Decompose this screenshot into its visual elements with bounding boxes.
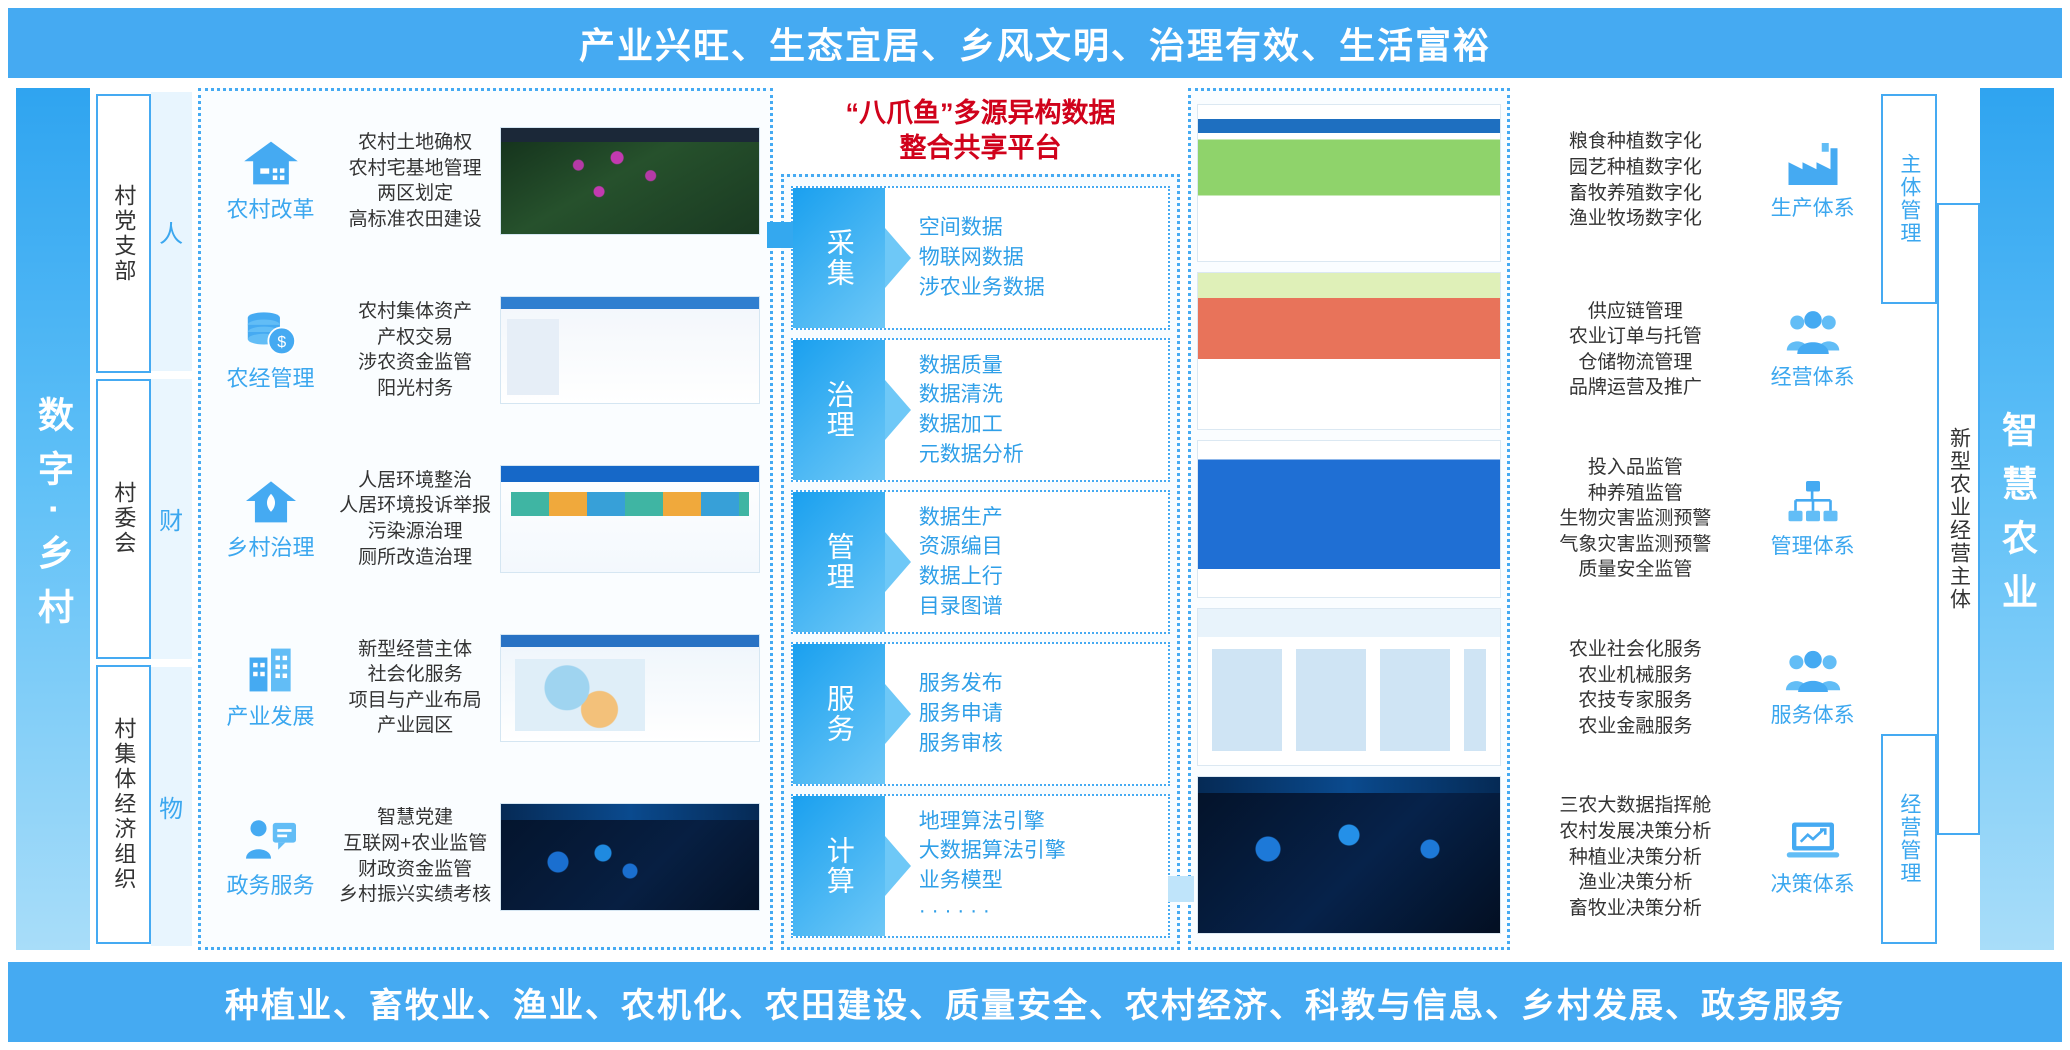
module-item: 智慧党建 (331, 805, 500, 831)
right-label-text: 新型农业经营主体 (1944, 427, 1974, 611)
system-label: 经营体系 (1771, 361, 1855, 391)
module-item: 人居环境投诉举报 (331, 493, 500, 519)
stage-name-badge: 服务 (793, 644, 885, 784)
stage-item: 服务发布 (919, 670, 1162, 698)
stage-name-badge: 采集 (793, 188, 885, 328)
factory-icon (1785, 140, 1841, 188)
produce-traceability-screenshot (1197, 272, 1501, 430)
system-item: 农业金融服务 (1518, 714, 1752, 740)
module-row-rural-economy[interactable]: $ 农经管理 农村集体资产 产权交易 涉农资金监管 阳光村务 (207, 266, 764, 435)
stage-name-label: 采集 (819, 228, 859, 288)
stage-inlet-tab (767, 222, 793, 248)
stage-item: 数据生产 (919, 504, 1162, 532)
org-item-label: 村集体经济组织 (107, 717, 139, 892)
right-screenshots-panel (1188, 88, 1510, 950)
system-row-decision[interactable]: 三农大数据指挥舱 农村发展决策分析 种植业决策分析 渔业决策分析 畜牧业决策分析… (1514, 773, 1876, 942)
module-item: 人居环境整治 (331, 468, 500, 494)
system-item: 粮食种植数字化 (1518, 129, 1752, 155)
infographic-page: 产业兴旺、生态宜居、乡风文明、治理有效、生活富裕 数字·乡村 村党支部 村委会 … (0, 0, 2070, 1050)
module-item: 农村集体资产 (331, 299, 500, 325)
system-item: 农村发展决策分析 (1518, 819, 1752, 845)
module-item: 厕所改造治理 (331, 545, 500, 571)
stage-items: 服务发布 服务申请 服务审核 (885, 644, 1168, 784)
stage-name-badge: 计算 (793, 796, 885, 936)
module-item: 新型经营主体 (331, 637, 500, 663)
module-item: 高标准农田建设 (331, 207, 500, 233)
stage-items: 数据生产 资源编目 数据上行 目录图谱 (885, 492, 1168, 632)
module-items: 农村土地确权 农村宅基地管理 两区划定 高标准农田建设 (331, 130, 500, 233)
platform-title-line1: “八爪鱼”多源异构数据 (846, 96, 1116, 131)
module-item: 两区划定 (331, 181, 500, 207)
system-item: 仓储物流管理 (1518, 350, 1752, 376)
module-icon-wrap: 乡村治理 (211, 476, 331, 562)
system-items: 三农大数据指挥舱 农村发展决策分析 种植业决策分析 渔业决策分析 畜牧业决策分析 (1518, 793, 1752, 921)
people-service-icon (1785, 647, 1841, 695)
system-icon-wrap: 管理体系 (1753, 478, 1873, 560)
satellite-map-screenshot (500, 127, 760, 235)
stage-items: 数据质量 数据清洗 数据加工 元数据分析 (885, 340, 1168, 480)
system-item: 农技专家服务 (1518, 688, 1752, 714)
stage-item: 服务审核 (919, 730, 1162, 758)
chevron-right-icon (885, 228, 911, 288)
system-item: 畜牧业决策分析 (1518, 896, 1752, 922)
module-row-government-service[interactable]: 政务服务 智慧党建 互联网+农业监管 财政资金监管 乡村振兴实绩考核 (207, 772, 764, 941)
module-row-industry-development[interactable]: 产业发展 新型经营主体 社会化服务 项目与产业布局 产业园区 (207, 603, 764, 772)
module-item: 阳光村务 (331, 376, 500, 402)
system-label: 管理体系 (1771, 530, 1855, 560)
stage-item: 服务申请 (919, 700, 1162, 728)
module-row-rural-reform[interactable]: 农村改革 农村土地确权 农村宅基地管理 两区划定 高标准农田建设 (207, 97, 764, 266)
footer-banner: 种植业、畜牧业、渔业、农机化、农田建设、质量安全、农村经济、科教与信息、乡村发展… (8, 962, 2062, 1042)
stage-name-label: 管理 (819, 532, 859, 592)
org-item-label: 村委会 (107, 481, 139, 556)
system-item: 渔业决策分析 (1518, 870, 1752, 896)
module-item: 涉农资金监管 (331, 350, 500, 376)
left-spine-label: 数字·乡村 (35, 396, 71, 642)
stage-item: 物联网数据 (919, 244, 1162, 272)
module-row-rural-governance[interactable]: 乡村治理 人居环境整治 人居环境投诉举报 污染源治理 厕所改造治理 (207, 435, 764, 604)
food-safety-login-screenshot (1197, 440, 1501, 598)
module-icon-wrap: 农村改革 (211, 138, 331, 224)
module-label: 乡村治理 (227, 530, 315, 562)
left-modules-panel: 农村改革 农村土地确权 农村宅基地管理 两区划定 高标准农田建设 (198, 88, 773, 950)
module-icon-wrap: 产业发展 (211, 645, 331, 731)
org-column: 村党支部 村委会 村集体经济组织 (90, 88, 151, 950)
right-label-column: 主体管理 经营管理 (1881, 88, 1938, 950)
right-label-operation-management[interactable]: 经营管理 (1881, 734, 1938, 944)
stage-item: 大数据算法引擎 (919, 837, 1162, 865)
module-label: 政务服务 (227, 868, 315, 900)
system-item: 农业机械服务 (1518, 663, 1752, 689)
service-platform-screenshot (1197, 608, 1501, 766)
module-item: 农村土地确权 (331, 130, 500, 156)
platform-title-line2: 整合共享平台 (900, 131, 1062, 166)
org-item-label: 村党支部 (107, 184, 139, 284)
footer-title: 种植业、畜牧业、渔业、农机化、农田建设、质量安全、农村经济、科教与信息、乡村发展… (225, 978, 1845, 1027)
system-item: 质量安全监管 (1518, 557, 1752, 583)
stage-item: 目录图谱 (919, 593, 1162, 621)
stage-item: 空间数据 (919, 214, 1162, 242)
stage-govern[interactable]: 治理 数据质量 数据清洗 数据加工 元数据分析 (791, 338, 1170, 482)
system-icon-wrap: 生产体系 (1753, 140, 1873, 222)
system-items: 供应链管理 农业订单与托管 仓储物流管理 品牌运营及推广 (1518, 299, 1752, 402)
stage-compute[interactable]: 计算 地理算法引擎 大数据算法引擎 业务模型 · · · · · · (791, 794, 1170, 938)
org-chart-icon (1785, 478, 1841, 526)
system-label: 服务体系 (1771, 699, 1855, 729)
stage-item: 元数据分析 (919, 441, 1162, 469)
right-label-spacer-2 (1881, 522, 1938, 728)
svg-text:$: $ (277, 333, 286, 351)
bigdata-dashboard-screenshot (1197, 776, 1501, 934)
system-item: 供应链管理 (1518, 299, 1752, 325)
page-title: 产业兴旺、生态宜居、乡风文明、治理有效、生活富裕 (579, 17, 1491, 69)
module-label: 产业发展 (227, 699, 315, 731)
system-row-operation[interactable]: 供应链管理 农业订单与托管 仓储物流管理 品牌运营及推广 经营体系 (1514, 265, 1876, 434)
stage-items: 空间数据 物联网数据 涉农业务数据 (885, 188, 1168, 328)
stage-name-label: 服务 (819, 684, 859, 744)
left-spine: 数字·乡村 (16, 88, 90, 950)
module-item: 互联网+农业监管 (331, 831, 500, 857)
resource-item-finance: 财 (151, 379, 192, 658)
system-item: 农业社会化服务 (1518, 637, 1752, 663)
stage-items: 地理算法引擎 大数据算法引擎 业务模型 · · · · · · (885, 796, 1168, 936)
module-item: 产业园区 (331, 713, 500, 739)
system-row-management[interactable]: 投入品监管 种养殖监管 生物灾害监测预警 气象灾害监测预警 质量安全监管 管理体… (1514, 434, 1876, 603)
module-item: 污染源治理 (331, 519, 500, 545)
resource-item-assets: 物 (151, 667, 192, 946)
right-spine-label: 智慧农业 (1999, 411, 2035, 627)
stage-item: 资源编目 (919, 533, 1162, 561)
stage-manage[interactable]: 管理 数据生产 资源编目 数据上行 目录图谱 (791, 490, 1170, 634)
header-banner: 产业兴旺、生态宜居、乡风文明、治理有效、生活富裕 (8, 8, 2062, 78)
dashboard-screenshot (500, 465, 760, 573)
center-platform-column: “八爪鱼”多源异构数据 整合共享平台 采集 空间数据 物联网数据 涉农业务数据 (781, 88, 1180, 950)
house-icon (242, 476, 300, 526)
right-label-subject-management[interactable]: 主体管理 (1881, 94, 1938, 304)
org-item-village-party-branch[interactable]: 村党支部 (96, 94, 151, 373)
platform-title: “八爪鱼”多源异构数据 整合共享平台 (781, 88, 1180, 174)
stage-name-label: 治理 (819, 380, 859, 440)
chevron-right-icon (885, 532, 911, 592)
stage-item: 数据加工 (919, 411, 1162, 439)
system-item: 渔业牧场数字化 (1518, 206, 1752, 232)
dark-command-center-screenshot (500, 803, 760, 911)
module-item: 产权交易 (331, 325, 500, 351)
system-row-production[interactable]: 粮食种植数字化 园艺种植数字化 畜牧养殖数字化 渔业牧场数字化 生产体系 (1514, 96, 1876, 265)
agriculture-portal-screenshot (1197, 104, 1501, 262)
system-icon-wrap: 经营体系 (1753, 309, 1873, 391)
stage-name-badge: 管理 (793, 492, 885, 632)
people-group-icon (1785, 309, 1841, 357)
body-region: 数字·乡村 村党支部 村委会 村集体经济组织 人 财 物 (8, 88, 2062, 950)
system-items: 农业社会化服务 农业机械服务 农技专家服务 农业金融服务 (1518, 637, 1752, 740)
system-item: 畜牧养殖数字化 (1518, 181, 1752, 207)
module-items: 新型经营主体 社会化服务 项目与产业布局 产业园区 (331, 637, 500, 740)
module-label: 农经管理 (227, 361, 315, 393)
stage-item: 数据质量 (919, 352, 1162, 380)
module-items: 农村集体资产 产权交易 涉农资金监管 阳光村务 (331, 299, 500, 402)
system-item: 农业订单与托管 (1518, 324, 1752, 350)
stage-item: · · · · · · (919, 897, 1162, 925)
right-label-new-agri-entity[interactable]: 新型农业经营主体 (1937, 203, 1980, 835)
module-icon-wrap: $ 农经管理 (211, 307, 331, 393)
right-label-new-agri-entity-wrap: 新型农业经营主体 (1937, 88, 1980, 950)
stage-item: 地理算法引擎 (919, 808, 1162, 836)
system-icon-wrap: 决策体系 (1753, 816, 1873, 898)
coins-icon: $ (242, 307, 300, 357)
right-label-text: 经营管理 (1894, 793, 1924, 885)
right-systems-panel: 粮食种植数字化 园艺种植数字化 畜牧养殖数字化 渔业牧场数字化 生产体系 供应链… (1510, 88, 1880, 950)
stage-service[interactable]: 服务 服务发布 服务申请 服务审核 (791, 642, 1170, 786)
system-item: 种植业决策分析 (1518, 845, 1752, 871)
stage-collect[interactable]: 采集 空间数据 物联网数据 涉农业务数据 (791, 186, 1170, 330)
system-item: 投入品监管 (1518, 455, 1752, 481)
org-item-village-committee[interactable]: 村委会 (96, 379, 151, 658)
home-icon (242, 138, 300, 188)
stage-item: 业务模型 (919, 867, 1162, 895)
module-item: 乡村振兴实绩考核 (331, 882, 500, 908)
laptop-chart-icon (1785, 816, 1841, 864)
system-item: 气象灾害监测预警 (1518, 532, 1752, 558)
system-item: 生物灾害监测预警 (1518, 506, 1752, 532)
right-label-spacer (1881, 310, 1938, 516)
org-item-collective-economic-org[interactable]: 村集体经济组织 (96, 665, 151, 944)
stage-name-label: 计算 (819, 836, 859, 896)
resource-column: 人 财 物 (151, 88, 192, 950)
service-person-icon (242, 814, 300, 864)
module-items: 智慧党建 互联网+农业监管 财政资金监管 乡村振兴实绩考核 (331, 805, 500, 908)
system-items: 投入品监管 种养殖监管 生物灾害监测预警 气象灾害监测预警 质量安全监管 (1518, 455, 1752, 583)
chevron-right-icon (885, 836, 911, 896)
module-label: 农村改革 (227, 192, 315, 224)
stage-item: 涉农业务数据 (919, 274, 1162, 302)
module-item: 项目与产业布局 (331, 688, 500, 714)
system-item: 三农大数据指挥舱 (1518, 793, 1752, 819)
system-item: 园艺种植数字化 (1518, 155, 1752, 181)
system-row-service[interactable]: 农业社会化服务 农业机械服务 农技专家服务 农业金融服务 服务体系 (1514, 604, 1876, 773)
buildings-icon (242, 645, 300, 695)
platform-stages-panel: 采集 空间数据 物联网数据 涉农业务数据 治理 数据质量 (781, 174, 1180, 950)
module-item: 社会化服务 (331, 662, 500, 688)
stage-item: 数据清洗 (919, 381, 1162, 409)
data-table-screenshot (500, 296, 760, 404)
module-item: 农村宅基地管理 (331, 156, 500, 182)
module-items: 人居环境整治 人居环境投诉举报 污染源治理 厕所改造治理 (331, 468, 500, 571)
right-spine: 智慧农业 (1980, 88, 2054, 950)
stage-item: 数据上行 (919, 563, 1162, 591)
system-icon-wrap: 服务体系 (1753, 647, 1873, 729)
system-label: 决策体系 (1771, 868, 1855, 898)
system-items: 粮食种植数字化 园艺种植数字化 畜牧养殖数字化 渔业牧场数字化 (1518, 129, 1752, 232)
system-item: 种养殖监管 (1518, 481, 1752, 507)
gis-map-screenshot (500, 634, 760, 742)
system-label: 生产体系 (1771, 192, 1855, 222)
chevron-right-icon (885, 380, 911, 440)
right-label-text: 主体管理 (1894, 153, 1924, 245)
module-icon-wrap: 政务服务 (211, 814, 331, 900)
stage-outlet-tab (1168, 876, 1194, 902)
system-item: 品牌运营及推广 (1518, 375, 1752, 401)
chevron-right-icon (885, 684, 911, 744)
stage-name-badge: 治理 (793, 340, 885, 480)
resource-item-people: 人 (151, 92, 192, 371)
module-item: 财政资金监管 (331, 857, 500, 883)
